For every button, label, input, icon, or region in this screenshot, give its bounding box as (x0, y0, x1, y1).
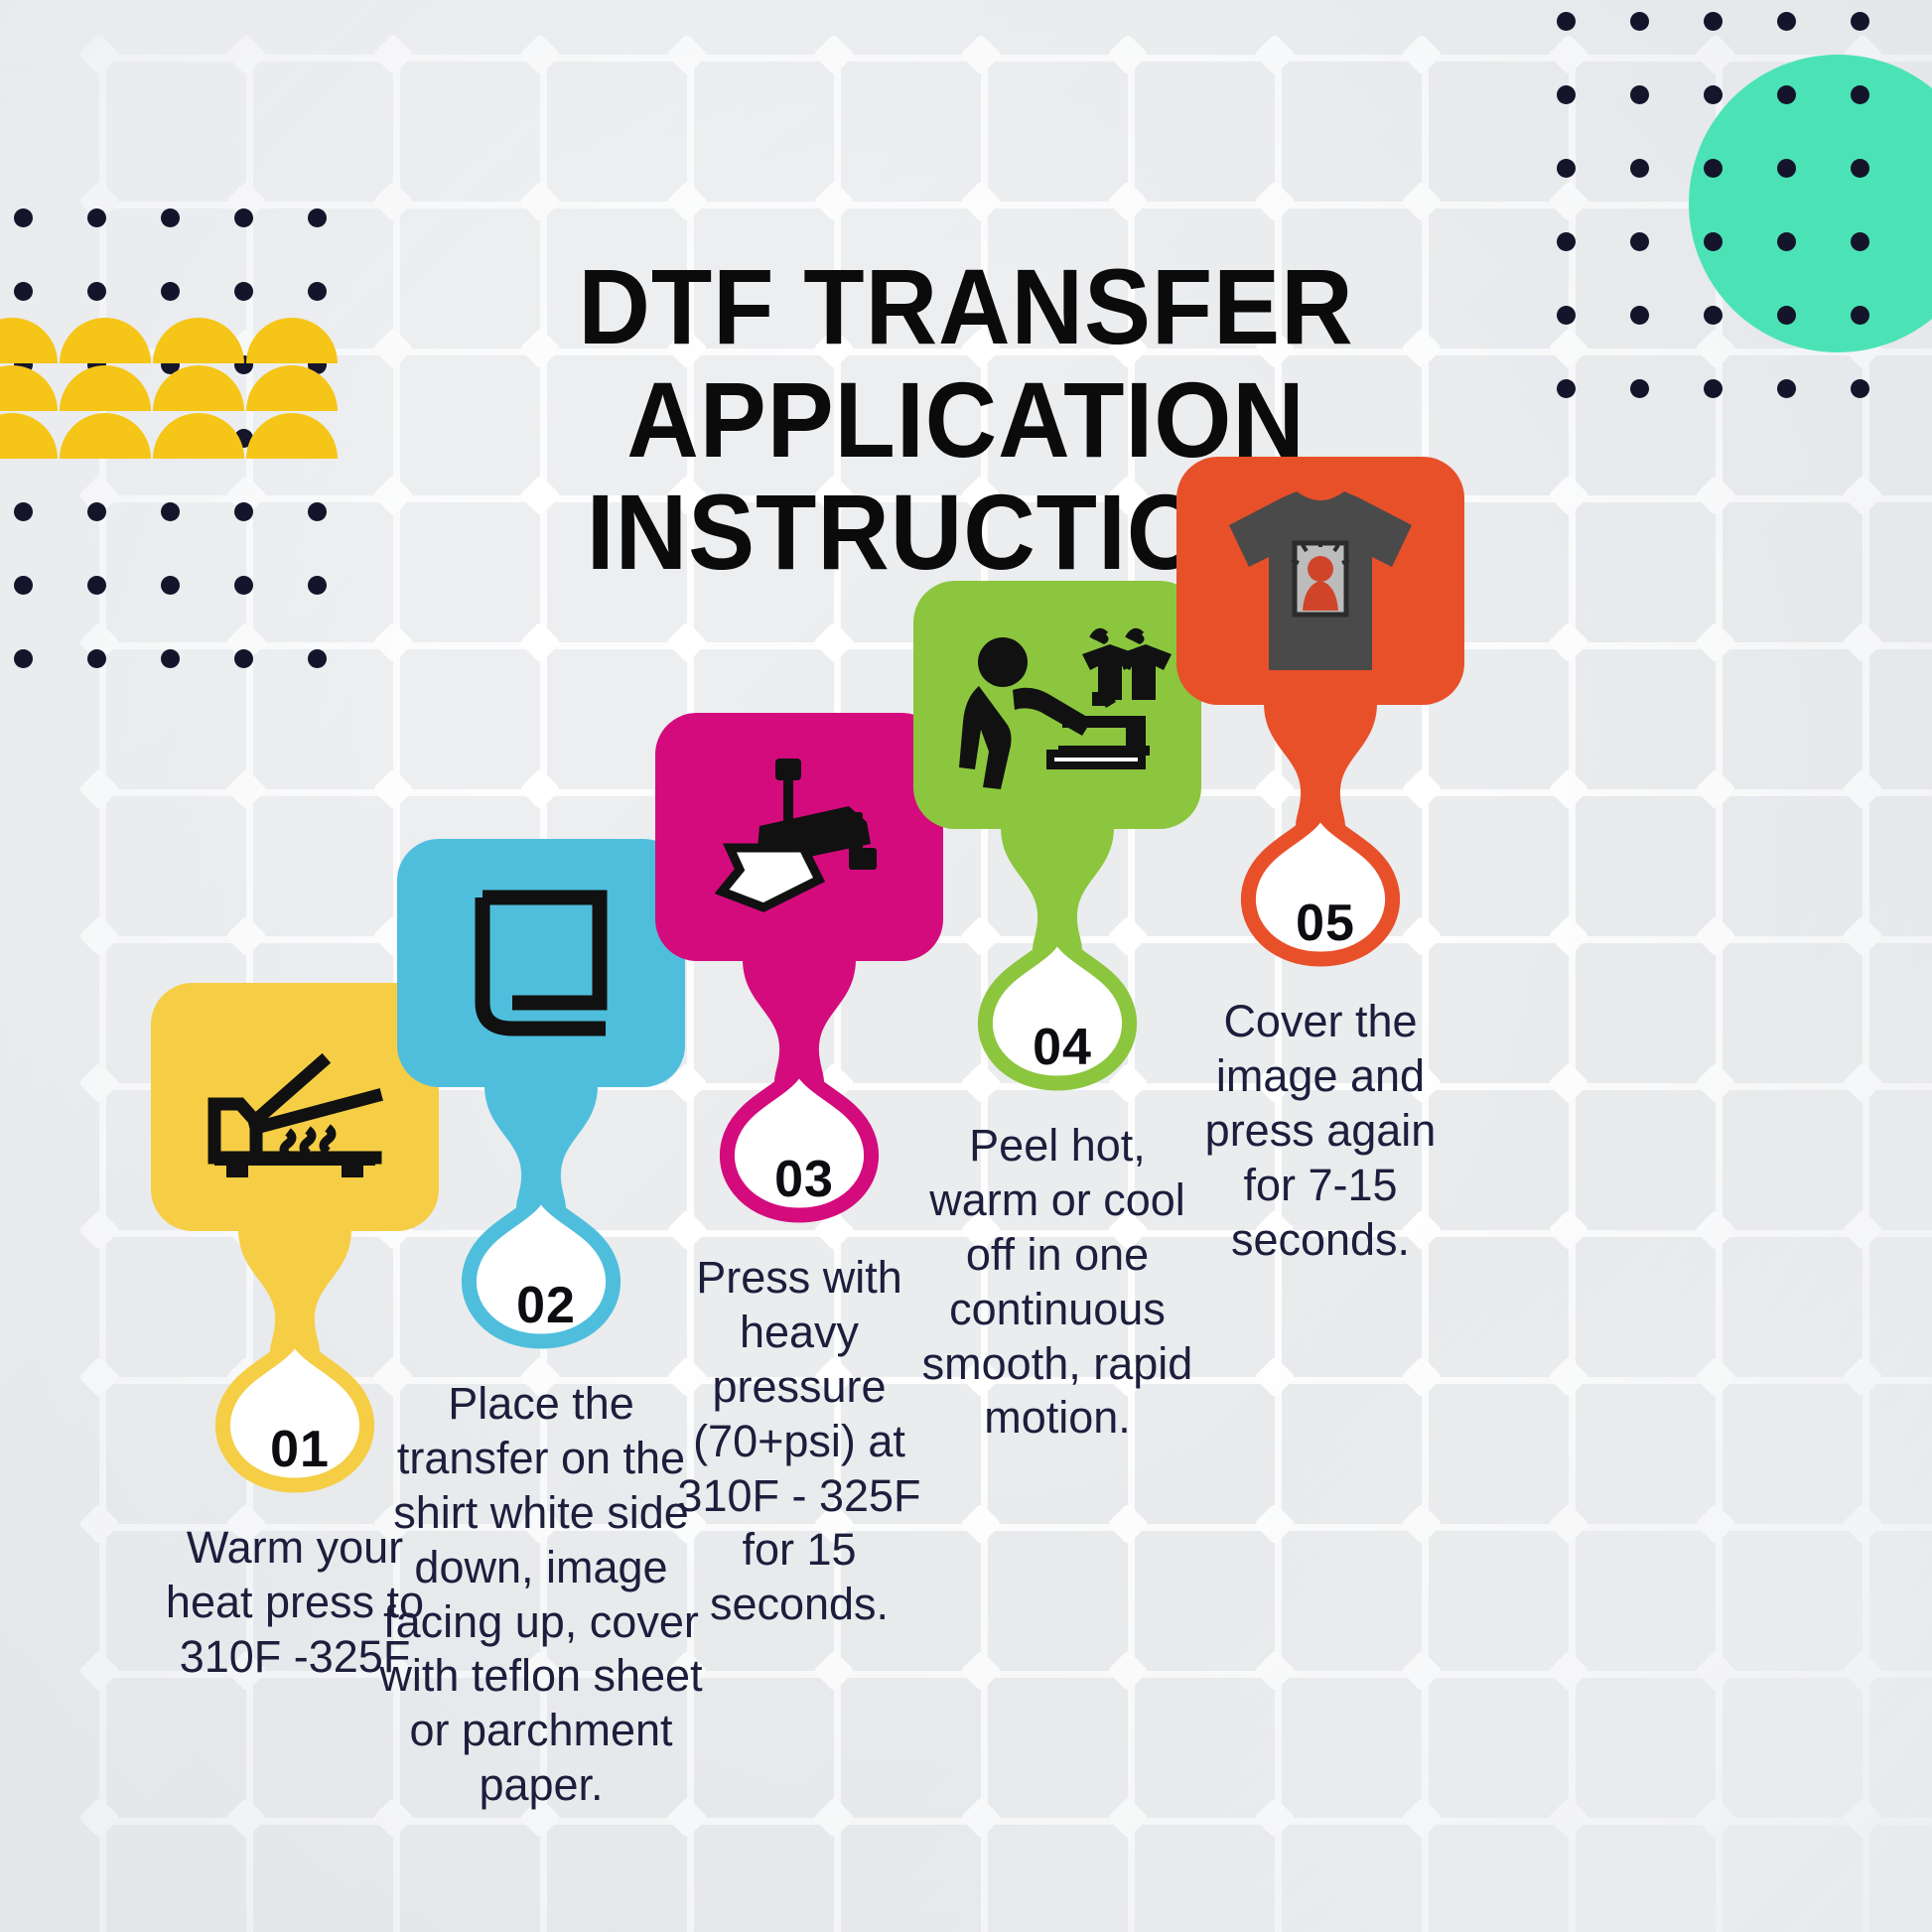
printed-tshirt-icon (1221, 482, 1420, 680)
step-number-badge: 04 (913, 1018, 1211, 1077)
step-04[interactable]: 04Peel hot, warm or cool off in one cont… (913, 581, 1211, 1446)
step-03[interactable]: 03Press with heavy pressure (70+psi) at … (655, 713, 953, 1632)
step-02[interactable]: 02Place the transfer on the shirt white … (397, 839, 695, 1813)
steps-container: 01Warm your heat press to 310F -325F 02P… (0, 0, 1932, 1932)
step-caption-03: Press with heavy pressure (70+psi) at 31… (658, 1251, 941, 1632)
transfer-sheet-icon (457, 884, 625, 1042)
step-number-badge: 02 (397, 1276, 695, 1335)
step-card-05[interactable] (1176, 457, 1464, 705)
heat-press-pressing-icon (700, 753, 898, 921)
step-number-badge: 03 (655, 1150, 953, 1209)
step-card-02[interactable] (397, 839, 685, 1087)
step-card-03[interactable] (655, 713, 943, 961)
step-card-01[interactable] (151, 983, 439, 1231)
heat-press-icon (201, 1033, 389, 1181)
person-peeling-icon (943, 621, 1172, 789)
step-caption-05: Cover the image and press again for 7-15… (1181, 995, 1459, 1267)
step-number-badge: 05 (1176, 894, 1474, 953)
step-05[interactable]: 05Cover the image and press again for 7-… (1176, 457, 1474, 1267)
step-caption-04: Peel hot, warm or cool off in one contin… (918, 1119, 1196, 1446)
step-card-04[interactable] (913, 581, 1201, 829)
